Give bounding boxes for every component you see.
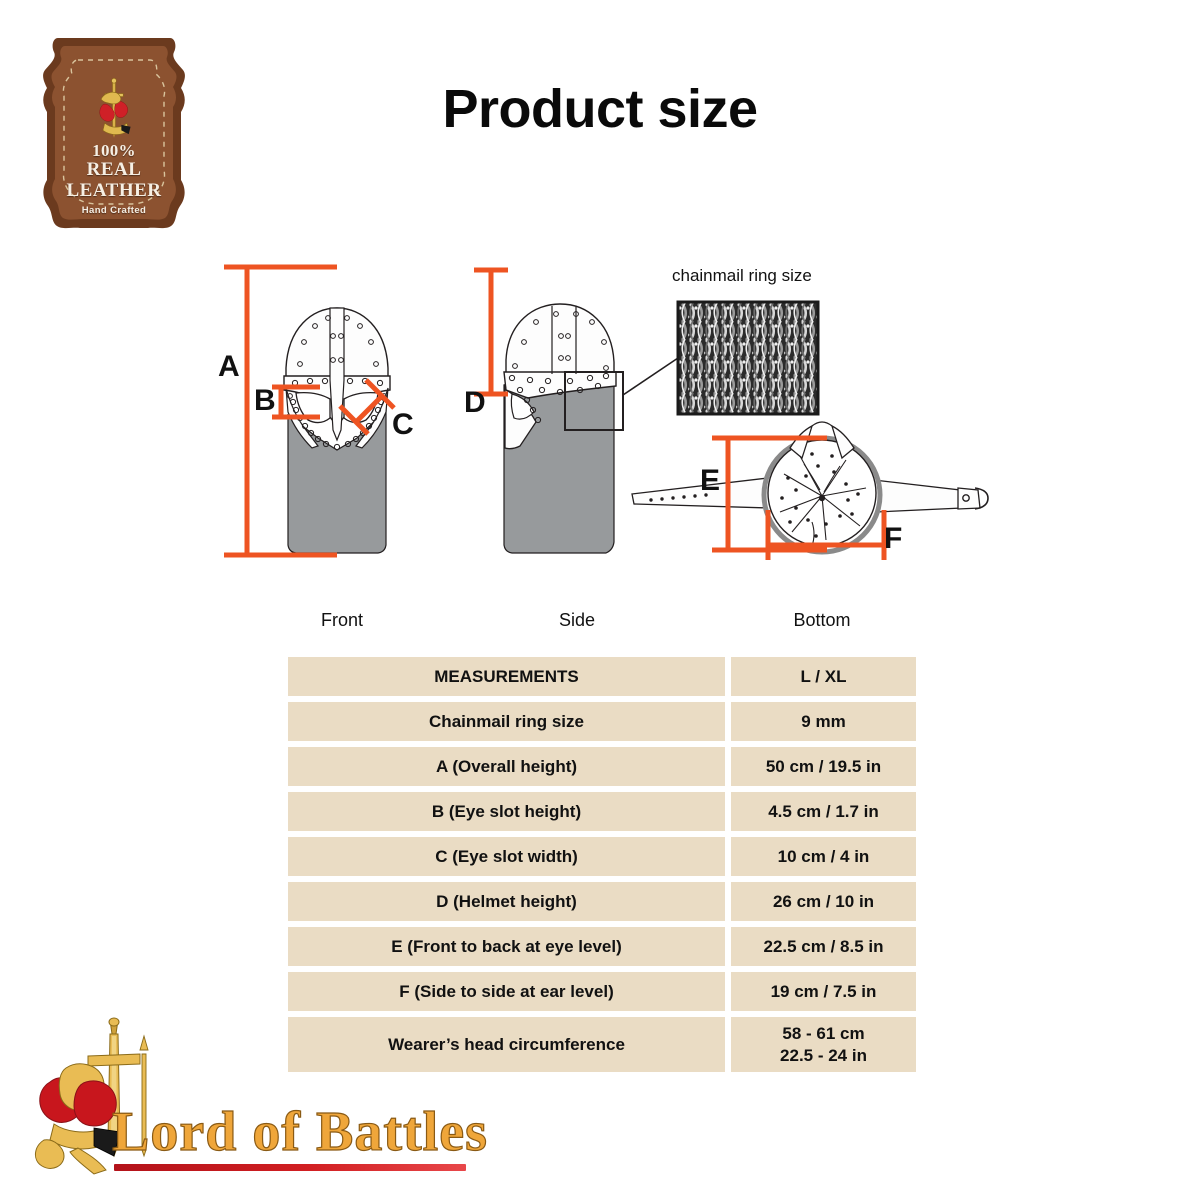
table-header-row: MEASUREMENTS L / XL (288, 657, 916, 696)
badge-text-block: 100% REAL LEATHER Hand Crafted (38, 142, 190, 217)
table-row: D (Helmet height) 26 cm / 10 in (288, 882, 916, 921)
lob-wordmark: Lord of Battles (112, 1100, 488, 1164)
row-value-a: 50 cm / 19.5 in (731, 747, 916, 786)
view-label-front: Front (262, 610, 422, 631)
row-label-d: D (Helmet height) (288, 882, 725, 921)
dimension-label-e: E (700, 464, 720, 498)
head-circumference-cm: 58 - 61 cm (780, 1023, 867, 1045)
table-header-value: L / XL (731, 657, 916, 696)
view-label-bottom: Bottom (742, 610, 902, 631)
table-row: E (Front to back at eye level) 22.5 cm /… (288, 927, 916, 966)
side-view-drawing (504, 304, 623, 553)
table-row: Chainmail ring size 9 mm (288, 702, 916, 741)
table-row: F (Side to side at ear level) 19 cm / 7.… (288, 972, 916, 1011)
lord-of-battles-logo: Lord of Battles (14, 1012, 474, 1188)
dimension-label-d: D (464, 386, 486, 420)
row-label-e: E (Front to back at eye level) (288, 927, 725, 966)
row-label-b: B (Eye slot height) (288, 792, 725, 831)
row-value-e: 22.5 cm / 8.5 in (731, 927, 916, 966)
head-circumference-in: 22.5 - 24 in (780, 1045, 867, 1067)
badge-line-handcrafted: Hand Crafted (38, 206, 190, 216)
row-value-head-circumference: 58 - 61 cm 22.5 - 24 in (731, 1017, 916, 1072)
product-size-page: 100% REAL LEATHER Hand Crafted Product s… (0, 0, 1200, 1200)
dimension-label-c: C (392, 408, 414, 442)
badge-line-leather: LEATHER (38, 181, 190, 202)
table-row: C (Eye slot width) 10 cm / 4 in (288, 837, 916, 876)
dimension-label-f: F (884, 522, 902, 556)
view-label-side: Side (497, 610, 657, 631)
chainmail-detail (623, 302, 818, 414)
table-row: B (Eye slot height) 4.5 cm / 1.7 in (288, 792, 916, 831)
row-value-chainmail-ring-size: 9 mm (731, 702, 916, 741)
dimension-label-a: A (218, 350, 240, 384)
chainmail-swatch (678, 302, 818, 414)
dimension-d (474, 270, 508, 394)
table-row: A (Overall height) 50 cm / 19.5 in (288, 747, 916, 786)
front-view-drawing (284, 308, 390, 553)
bottom-view-drawing (632, 422, 988, 552)
row-label-f: F (Side to side at ear level) (288, 972, 725, 1011)
row-label-chainmail-ring-size: Chainmail ring size (288, 702, 725, 741)
row-value-d: 26 cm / 10 in (731, 882, 916, 921)
dimension-label-b: B (254, 384, 276, 418)
row-value-f: 19 cm / 7.5 in (731, 972, 916, 1011)
badge-line-percent: 100% (38, 142, 190, 160)
table-header-label: MEASUREMENTS (288, 657, 725, 696)
diagram-area: A B C D E F (0, 250, 1200, 600)
badge-line-real: REAL (38, 160, 190, 181)
page-title: Product size (0, 78, 1200, 140)
chainmail-caption: chainmail ring size (672, 266, 812, 286)
row-label-c: C (Eye slot width) (288, 837, 725, 876)
row-value-b: 4.5 cm / 1.7 in (731, 792, 916, 831)
lob-underline-rule (114, 1164, 466, 1171)
helmet-diagrams-svg (0, 250, 1200, 600)
row-value-c: 10 cm / 4 in (731, 837, 916, 876)
row-label-a: A (Overall height) (288, 747, 725, 786)
